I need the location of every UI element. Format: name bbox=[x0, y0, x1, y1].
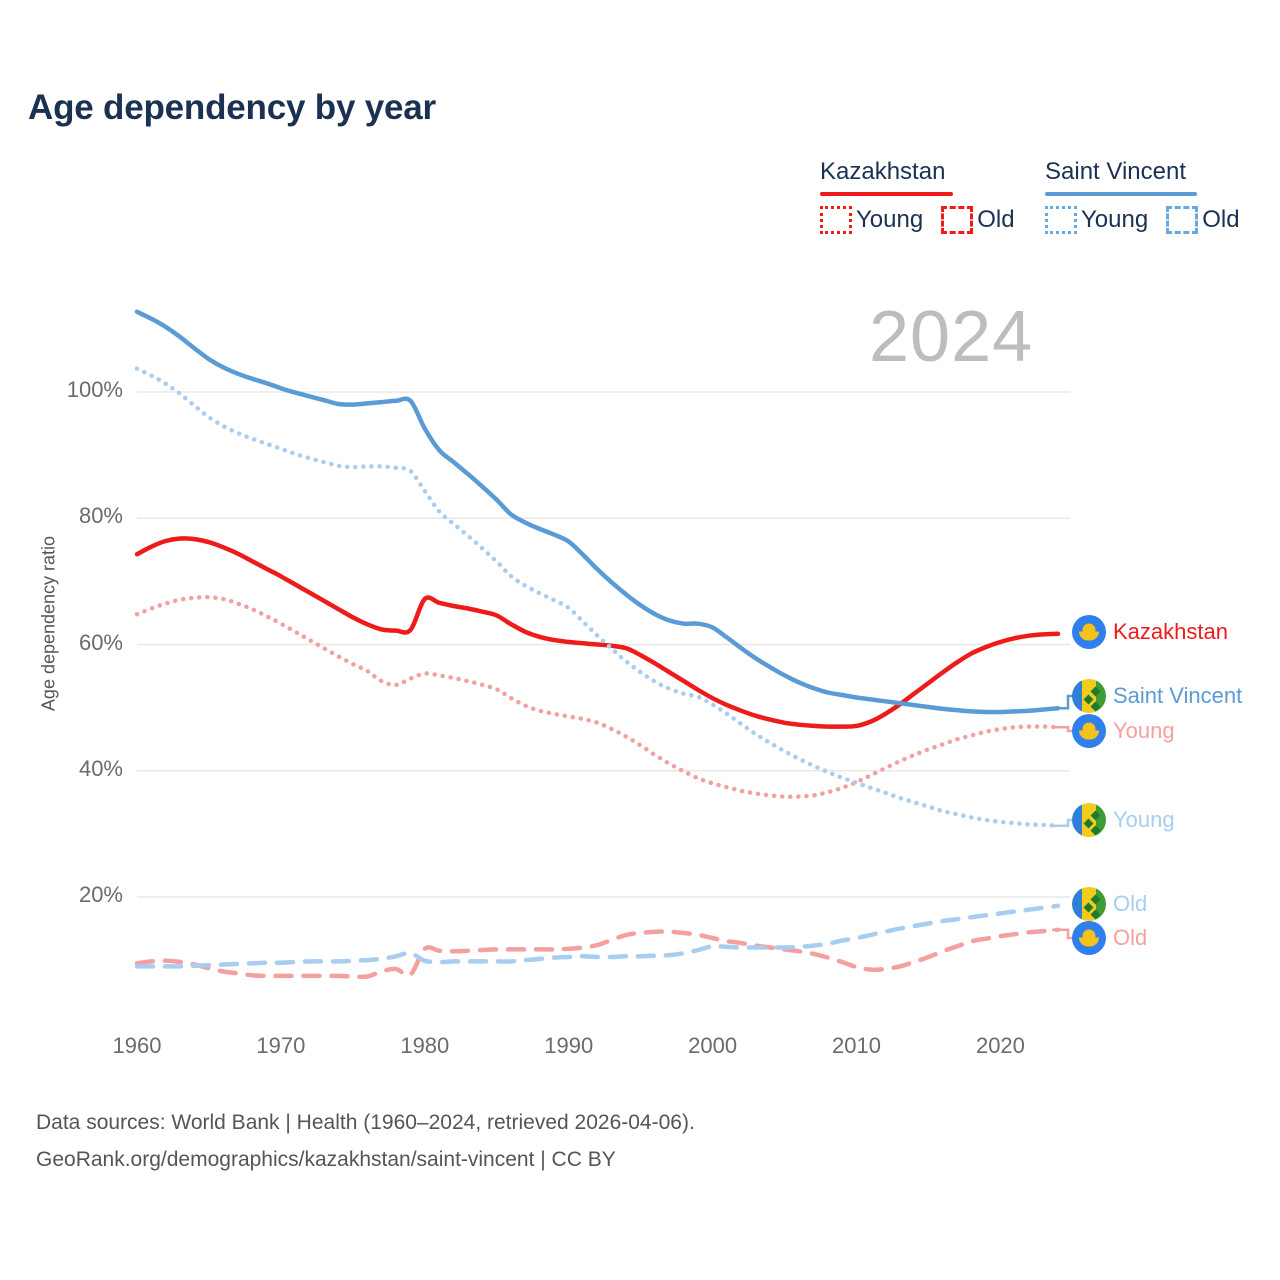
y-axis-tick: 20% bbox=[3, 882, 123, 908]
footer: Data sources: World Bank | Health (1960–… bbox=[36, 1105, 695, 1179]
saint-vincent-flag-icon bbox=[1072, 887, 1106, 921]
series-label-old[interactable]: Old bbox=[1072, 887, 1147, 921]
series-line-kazakhstan-young bbox=[137, 597, 1058, 797]
series-label-young[interactable]: Young bbox=[1072, 714, 1175, 748]
series-label-text: Kazakhstan bbox=[1113, 619, 1228, 645]
x-axis-tick: 1990 bbox=[509, 1033, 629, 1059]
series-label-saint-vincent[interactable]: Saint Vincent bbox=[1072, 679, 1242, 713]
saint-vincent-flag-icon bbox=[1072, 803, 1106, 837]
x-axis-tick: 1960 bbox=[77, 1033, 197, 1059]
x-axis-tick: 1970 bbox=[221, 1033, 341, 1059]
series-label-text: Old bbox=[1113, 925, 1147, 951]
x-axis-tick: 1980 bbox=[365, 1033, 485, 1059]
series-line-saint-vincent bbox=[137, 312, 1058, 712]
series-label-young[interactable]: Young bbox=[1072, 803, 1175, 837]
y-axis-tick: 60% bbox=[3, 630, 123, 656]
series-line-kazakhstan-old bbox=[137, 930, 1058, 977]
x-axis-tick: 2000 bbox=[653, 1033, 773, 1059]
chart-plot-area: Age dependency ratio 20%40%60%80%100% 19… bbox=[0, 0, 1280, 1280]
series-label-old[interactable]: Old bbox=[1072, 921, 1147, 955]
series-line-saint-vincent-old bbox=[137, 906, 1058, 967]
x-axis-tick: 2020 bbox=[940, 1033, 1060, 1059]
series-label-text: Young bbox=[1113, 807, 1175, 833]
series-label-kazakhstan[interactable]: Kazakhstan bbox=[1072, 615, 1228, 649]
y-axis-tick: 100% bbox=[3, 377, 123, 403]
footer-line-attribution: GeoRank.org/demographics/kazakhstan/sain… bbox=[36, 1142, 695, 1179]
series-label-text: Old bbox=[1113, 891, 1147, 917]
footer-line-sources: Data sources: World Bank | Health (1960–… bbox=[36, 1105, 695, 1142]
series-line-saint-vincent-young bbox=[137, 369, 1058, 826]
kazakhstan-flag-icon bbox=[1072, 714, 1106, 748]
y-axis-label: Age dependency ratio bbox=[39, 509, 60, 739]
kazakhstan-flag-icon bbox=[1072, 921, 1106, 955]
y-axis-tick: 40% bbox=[3, 756, 123, 782]
kazakhstan-flag-icon bbox=[1072, 615, 1106, 649]
saint-vincent-flag-icon bbox=[1072, 679, 1106, 713]
series-label-text: Saint Vincent bbox=[1113, 683, 1242, 709]
y-axis-tick: 80% bbox=[3, 503, 123, 529]
series-label-text: Young bbox=[1113, 718, 1175, 744]
x-axis-tick: 2010 bbox=[797, 1033, 917, 1059]
